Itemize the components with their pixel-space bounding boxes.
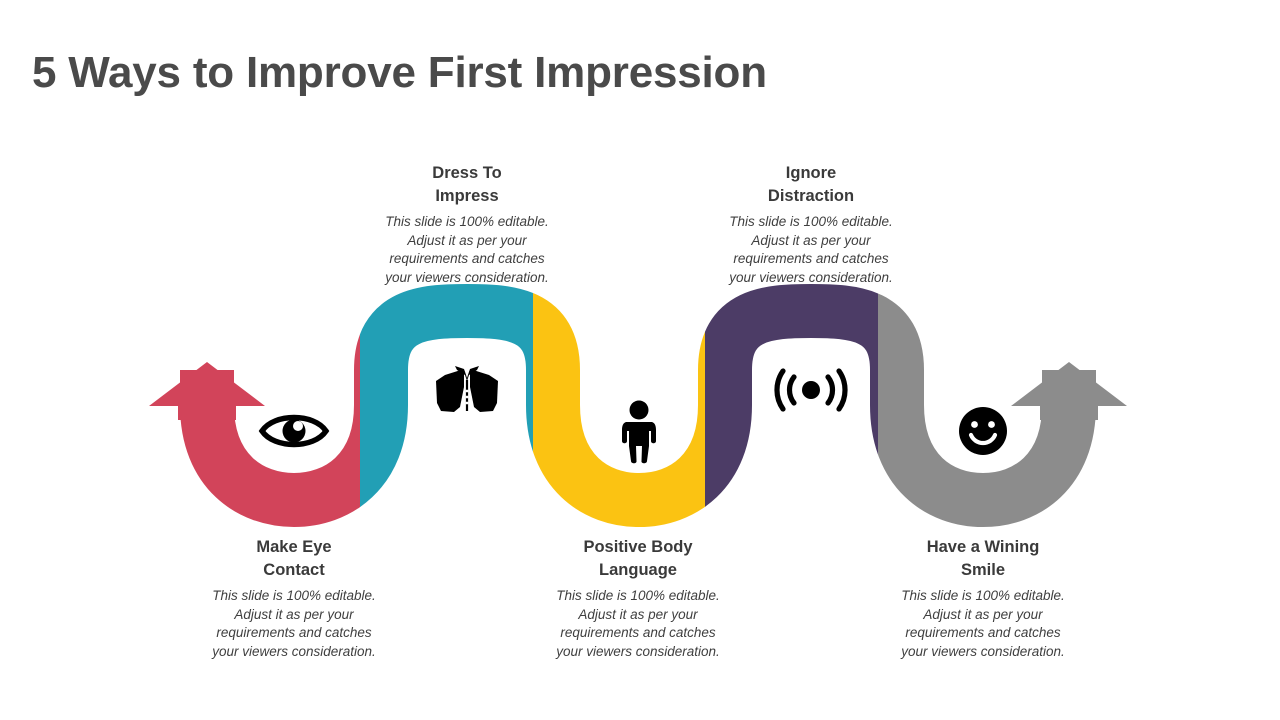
step-heading-line1: Positive Body [583,538,692,556]
step-heading-line2: Language [599,561,677,579]
step-body-line3: requirements and catches [216,625,371,640]
step-body-line1: This slide is 100% editable. [729,214,893,229]
step-heading-line2: Contact [263,561,324,579]
step-body: This slide is 100% editable. Adjust it a… [696,213,926,287]
step-heading-line2: Impress [435,187,498,205]
step-label-make-eye-contact: Make Eye Contact This slide is 100% edit… [179,536,409,661]
step-body-line4: your viewers consideration. [901,644,1065,659]
step-body-line3: requirements and catches [905,625,1060,640]
step-heading: Have a Wining Smile [868,536,1098,582]
step-body: This slide is 100% editable. Adjust it a… [352,213,582,287]
step-heading-line1: Dress To [432,164,501,182]
step-body: This slide is 100% editable. Adjust it a… [179,587,409,661]
step-heading: Ignore Distraction [696,162,926,208]
step-body-line4: your viewers consideration. [729,270,893,285]
step-label-have-a-wining-smile: Have a Wining Smile This slide is 100% e… [868,536,1098,661]
step-body-line4: your viewers consideration. [556,644,720,659]
step-body-line4: your viewers consideration. [385,270,549,285]
step-heading-line1: Make Eye [256,538,331,556]
step-body-line2: Adjust it as per your [407,233,526,248]
step-heading: Make Eye Contact [179,536,409,582]
step-label-dress-to-impress: Dress To Impress This slide is 100% edit… [352,162,582,287]
step-heading-line1: Have a Wining [927,538,1040,556]
step-body-line2: Adjust it as per your [751,233,870,248]
step-body-line3: requirements and catches [733,251,888,266]
step-heading-line2: Distraction [768,187,854,205]
broadcast-signal-icon [777,371,845,409]
step-label-positive-body-language: Positive Body Language This slide is 100… [523,536,753,661]
step-heading: Dress To Impress [352,162,582,208]
right-arrow-head [1011,362,1127,420]
suit-jacket-icon [436,365,498,412]
slide-canvas: 5 Ways to Improve First Impression [0,0,1280,720]
person-standing-icon [622,401,656,464]
step-body: This slide is 100% editable. Adjust it a… [523,587,753,661]
step-heading-line1: Ignore [786,164,836,182]
step-body-line1: This slide is 100% editable. [385,214,549,229]
step-body-line2: Adjust it as per your [923,607,1042,622]
step-body: This slide is 100% editable. Adjust it a… [868,587,1098,661]
step-body-line4: your viewers consideration. [212,644,376,659]
step-body-line3: requirements and catches [560,625,715,640]
step-body-line2: Adjust it as per your [578,607,697,622]
step-heading-line2: Smile [961,561,1005,579]
step-body-line2: Adjust it as per your [234,607,353,622]
step-body-line3: requirements and catches [389,251,544,266]
step-label-ignore-distraction: Ignore Distraction This slide is 100% ed… [696,162,926,287]
step-body-line1: This slide is 100% editable. [556,588,720,603]
smiley-face-icon [959,407,1007,455]
step-body-line1: This slide is 100% editable. [901,588,1065,603]
eye-icon [262,418,326,445]
step-heading: Positive Body Language [523,536,753,582]
step-body-line1: This slide is 100% editable. [212,588,376,603]
left-arrow-head [149,362,265,420]
